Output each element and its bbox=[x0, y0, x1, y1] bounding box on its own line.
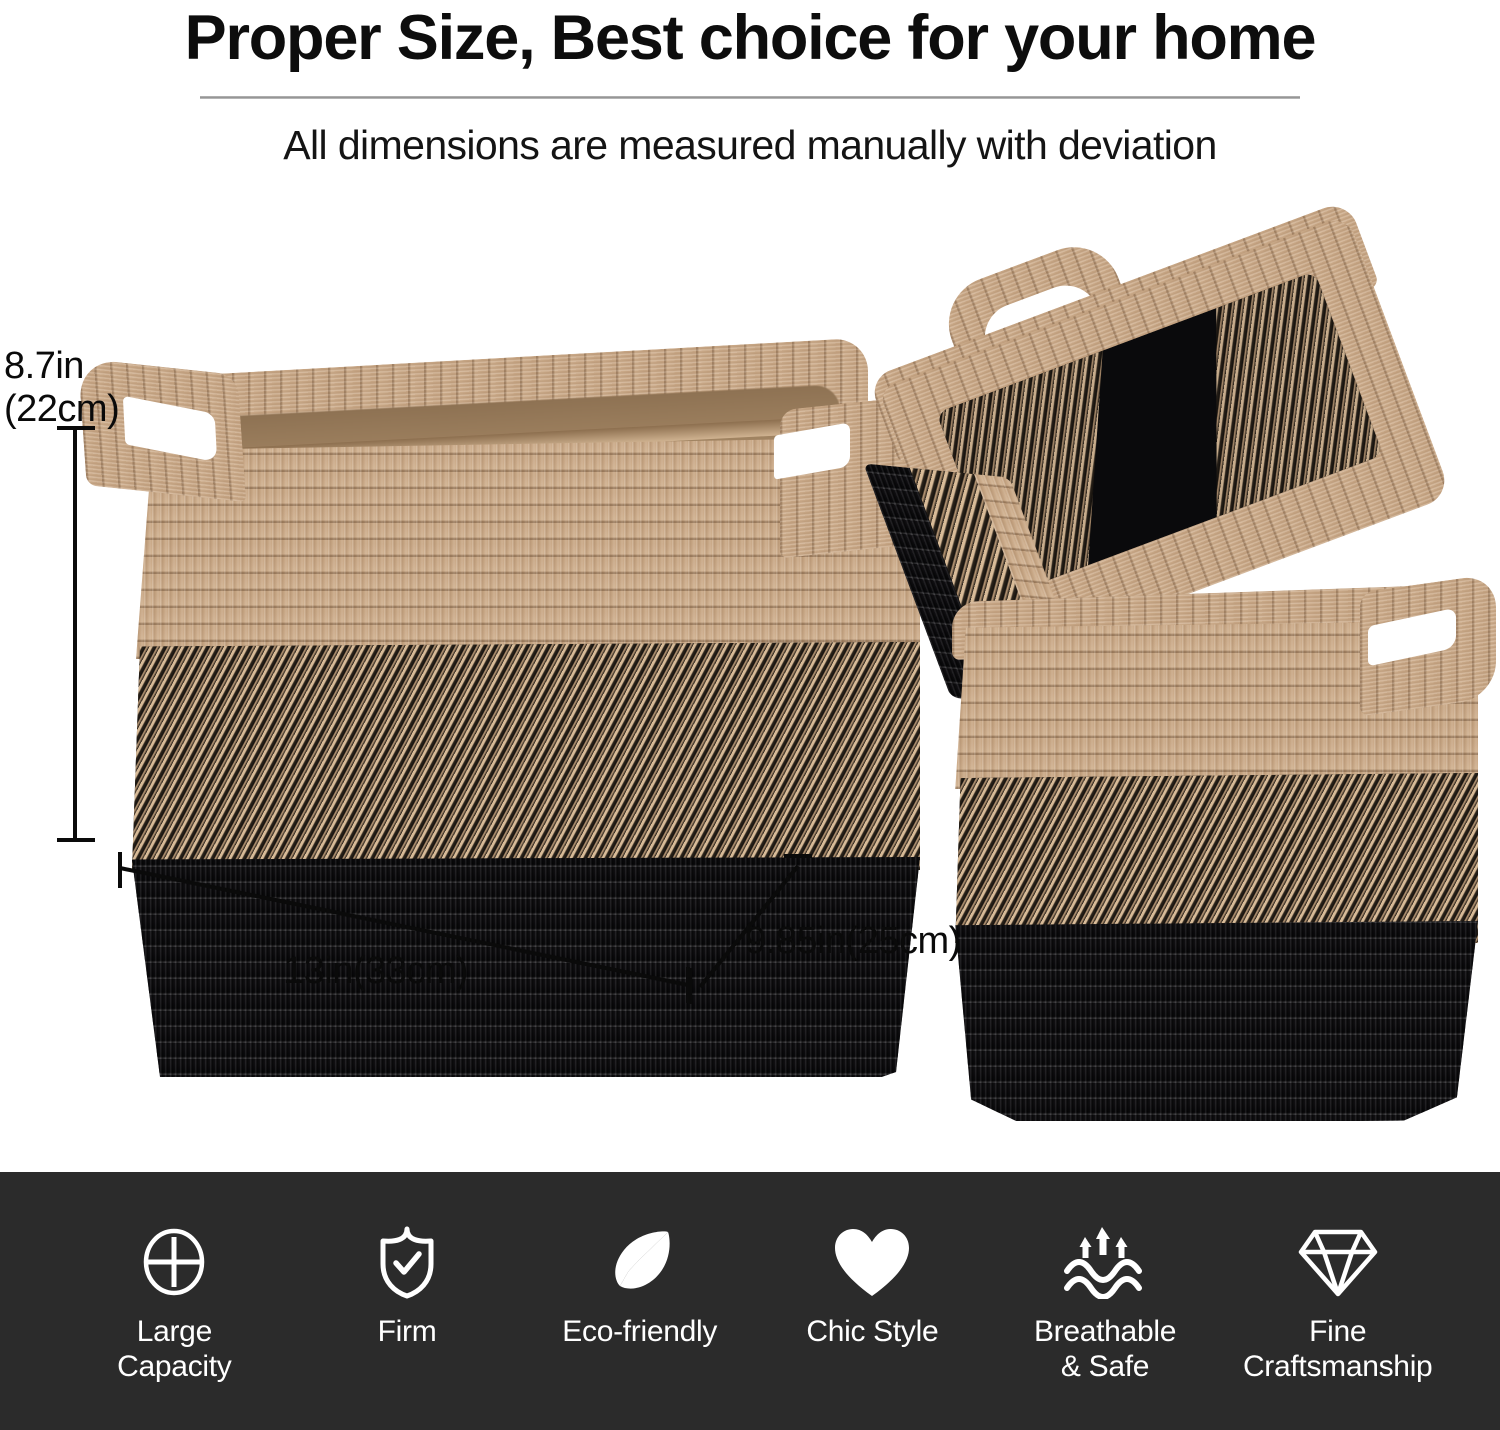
dimension-label-width: 13in(33cm) bbox=[283, 950, 468, 993]
feature-label: Chic Style bbox=[806, 1314, 938, 1349]
feature-label: Fine Craftsmanship bbox=[1243, 1314, 1433, 1385]
dimension-label-depth: 9.85in(25cm) bbox=[745, 920, 961, 963]
product-illustration bbox=[0, 180, 1500, 1172]
feature-bar: Large Capacity Firm Eco-friendly Chic St… bbox=[0, 1172, 1500, 1430]
basket-main-weave-band bbox=[120, 642, 920, 870]
feature-label: Firm bbox=[378, 1314, 437, 1349]
dimension-label-height: 8.7in (22cm) bbox=[4, 345, 119, 430]
page-title: Proper Size, Best choice for your home bbox=[0, 2, 1500, 74]
basket-front-handle bbox=[1360, 583, 1500, 713]
feature-label: Large Capacity bbox=[117, 1314, 231, 1385]
feature-fine-craftsmanship: Fine Craftsmanship bbox=[1221, 1224, 1454, 1385]
basket-front bbox=[940, 575, 1500, 1145]
shield-check-icon bbox=[373, 1224, 441, 1300]
feature-chic-style: Chic Style bbox=[756, 1224, 989, 1349]
breathable-waves-icon bbox=[1061, 1224, 1149, 1300]
basket-main bbox=[80, 345, 910, 1125]
header-divider bbox=[200, 96, 1300, 99]
circle-plus-icon bbox=[138, 1224, 210, 1300]
basket-front-weave-band bbox=[950, 773, 1478, 943]
diamond-icon bbox=[1298, 1224, 1378, 1300]
basket-front-black-band bbox=[950, 921, 1478, 1121]
heart-icon bbox=[832, 1224, 912, 1300]
header-block: Proper Size, Best choice for your home A… bbox=[0, 0, 1500, 180]
feature-label: Eco-friendly bbox=[562, 1314, 717, 1349]
feature-label: Breathable & Safe bbox=[1034, 1314, 1176, 1385]
feature-eco-friendly: Eco-friendly bbox=[523, 1224, 756, 1349]
feature-large-capacity: Large Capacity bbox=[58, 1224, 291, 1385]
leaf-icon bbox=[602, 1224, 678, 1300]
page-subtitle: All dimensions are measured manually wit… bbox=[0, 122, 1500, 169]
feature-breathable-safe: Breathable & Safe bbox=[989, 1224, 1222, 1385]
basket-main-black-band bbox=[120, 857, 920, 1077]
feature-firm: Firm bbox=[291, 1224, 524, 1349]
